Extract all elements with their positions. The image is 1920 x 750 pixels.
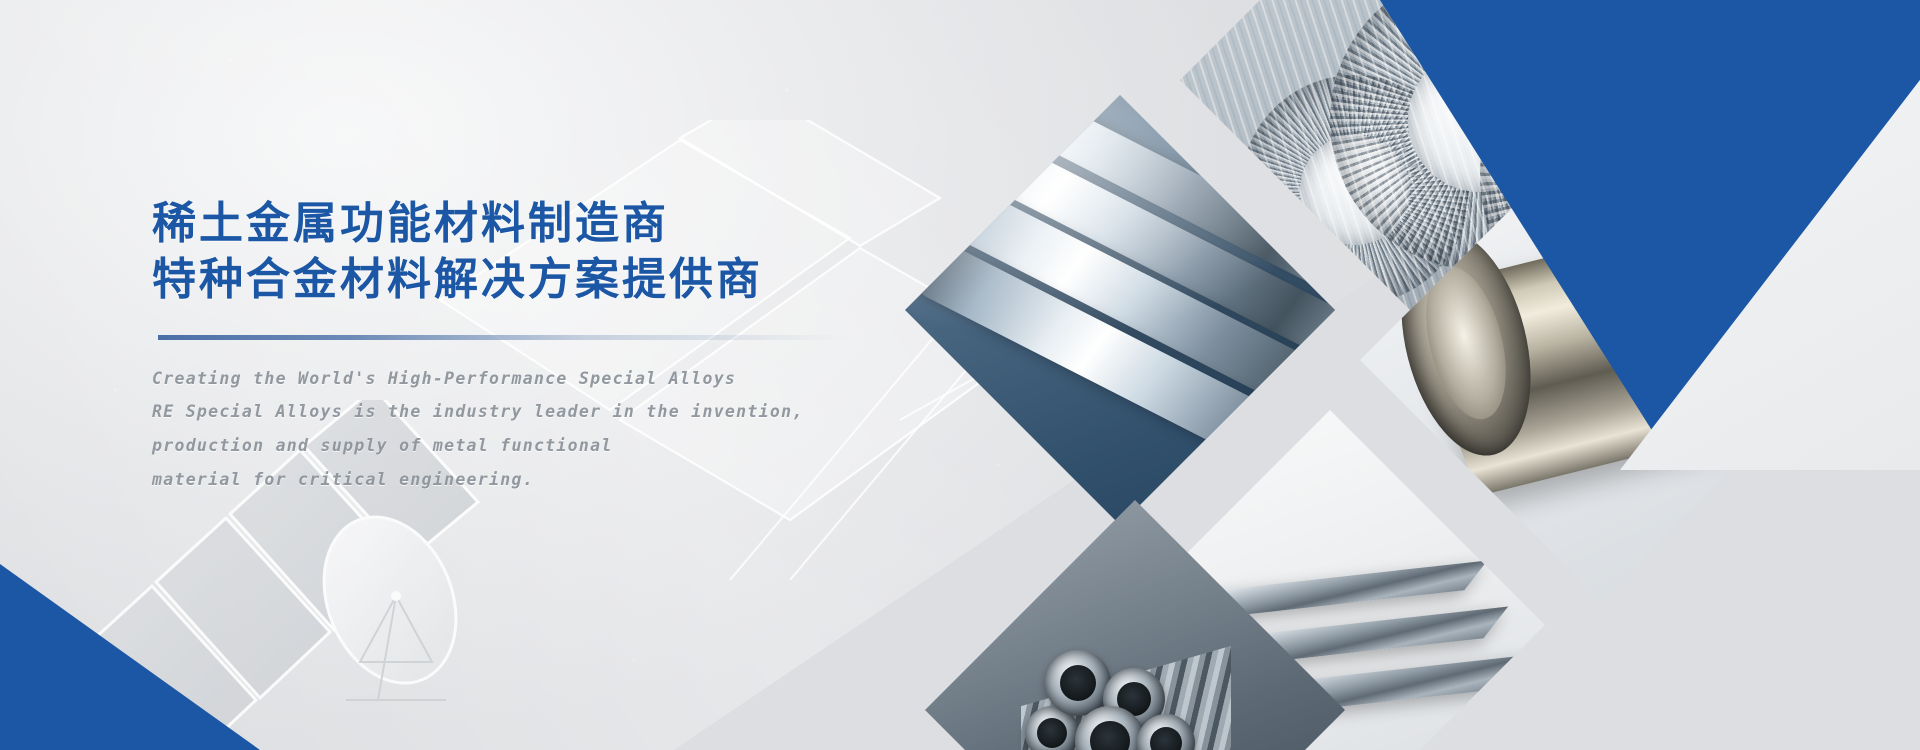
- subtitle-line-1: Creating the World's High-Performance Sp…: [152, 362, 1052, 396]
- subtitle-line-2: RE Special Alloys is the industry leader…: [152, 395, 1052, 429]
- headline-line-2: 特种合金材料解决方案提供商: [152, 252, 1052, 308]
- subtitle-line-3: production and supply of metal functiona…: [152, 429, 1052, 463]
- subtitle-line-4: material for critical engineering.: [152, 463, 1052, 497]
- headline-divider-rule: [158, 335, 848, 340]
- banner-text-block: 稀土金属功能材料制造商 特种合金材料解决方案提供商 Creating the W…: [152, 196, 1052, 497]
- subtitle-block: Creating the World's High-Performance Sp…: [152, 362, 1052, 497]
- headline-line-1: 稀土金属功能材料制造商: [152, 196, 1052, 252]
- hero-banner: 稀土金属功能材料制造商 特种合金材料解决方案提供商 Creating the W…: [0, 0, 1920, 750]
